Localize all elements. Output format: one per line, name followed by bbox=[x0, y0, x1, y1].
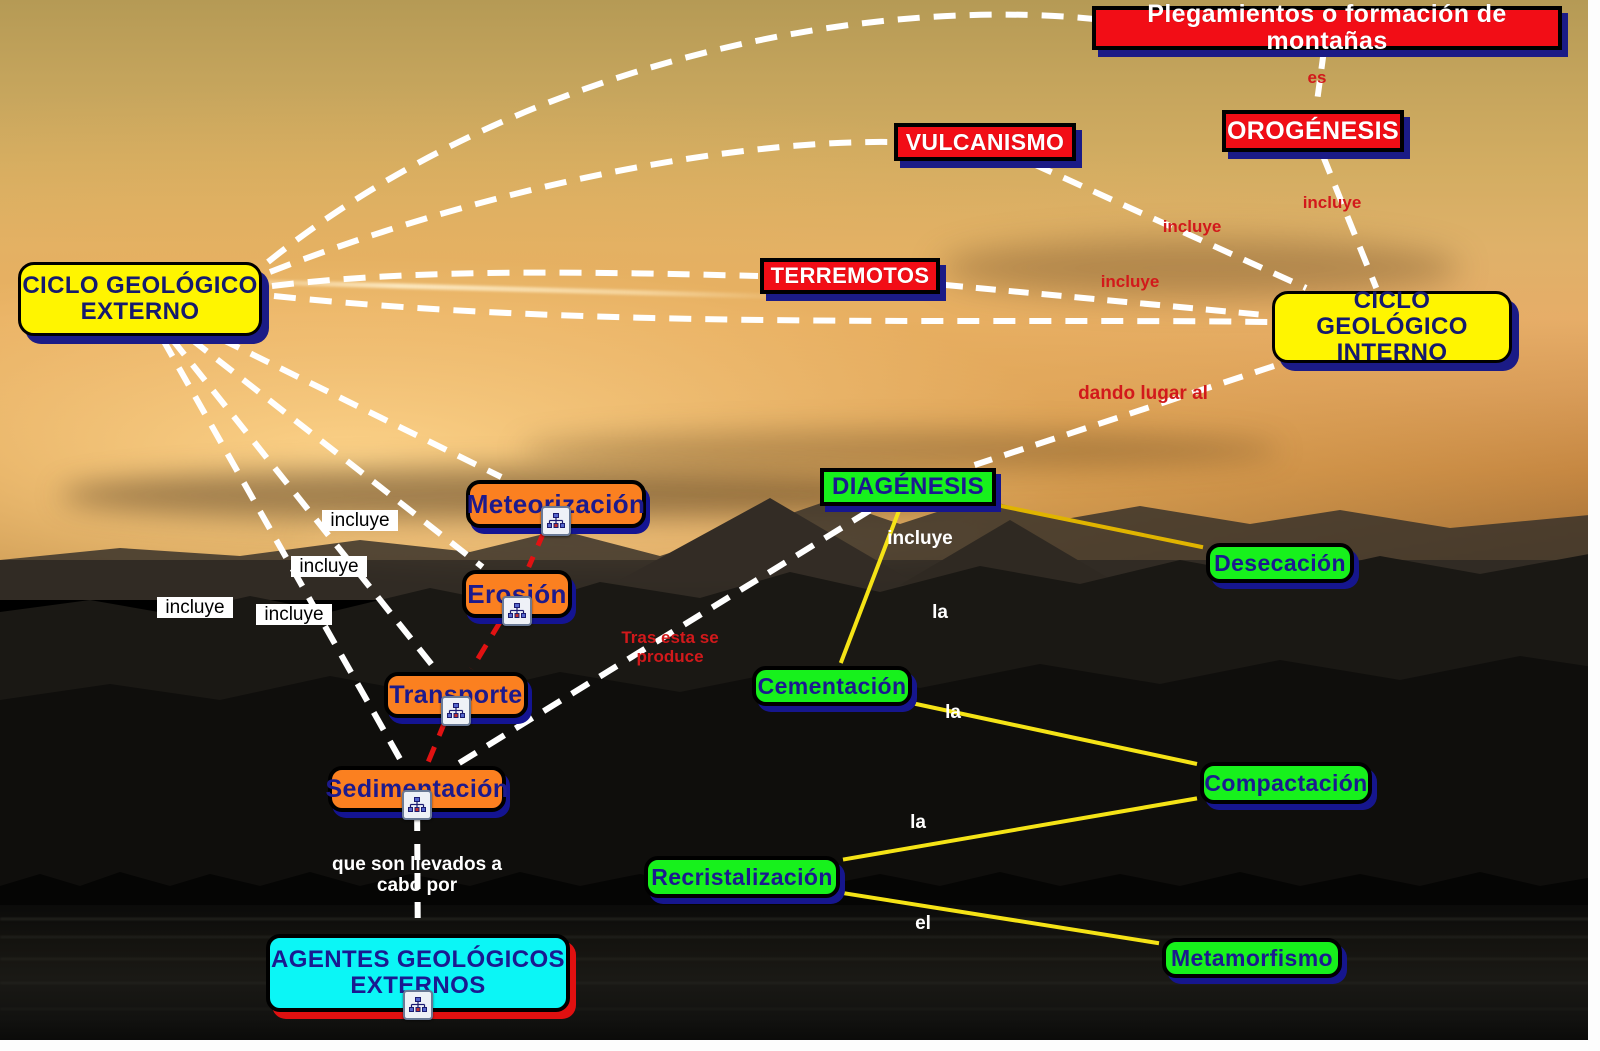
concept-node-vulcanismo[interactable]: VULCANISMO bbox=[894, 123, 1076, 161]
link-label-la-recristalizacion[interactable]: la bbox=[903, 812, 933, 833]
link-label-incluye-orogenesis[interactable]: incluye bbox=[1292, 193, 1372, 212]
concept-node-orogenesis[interactable]: OROGÉNESIS bbox=[1222, 110, 1404, 152]
submap-tree-icon[interactable] bbox=[502, 596, 532, 626]
concept-node-ciclo-externo[interactable]: CICLO GEOLÓGICO EXTERNO bbox=[18, 262, 262, 336]
concept-node-label: CICLO GEOLÓGICO INTERNO bbox=[1275, 288, 1509, 366]
submap-tree-icon[interactable] bbox=[402, 790, 432, 820]
concept-node-ciclo-interno[interactable]: CICLO GEOLÓGICO INTERNO bbox=[1272, 291, 1512, 363]
right-margin bbox=[1588, 0, 1600, 1051]
link-label-incluye-meteorizacion[interactable]: incluye bbox=[322, 510, 398, 531]
bottom-margin bbox=[0, 1040, 1600, 1051]
concept-node-sedimentacion[interactable]: Sedimentación bbox=[328, 766, 506, 812]
concept-node-label: VULCANISMO bbox=[906, 130, 1065, 155]
submap-tree-icon[interactable] bbox=[441, 696, 471, 726]
link-label-incluye-sedimentacion[interactable]: incluye bbox=[157, 597, 233, 618]
water-surface bbox=[0, 905, 1600, 1051]
concept-node-recristalizacion[interactable]: Recristalización bbox=[644, 856, 840, 898]
concept-node-label: Metamorfismo bbox=[1171, 946, 1333, 971]
link-label-la-desecacion[interactable]: la bbox=[925, 602, 955, 623]
concept-node-cementacion[interactable]: Cementación bbox=[752, 666, 912, 706]
concept-node-diagenesis[interactable]: DIAGÉNESIS bbox=[820, 468, 996, 506]
link-label-el-metamorfismo[interactable]: el bbox=[908, 913, 938, 934]
concept-node-agentes[interactable]: AGENTES GEOLÓGICOS EXTERNOS bbox=[266, 934, 570, 1012]
link-label-la-compactacion[interactable]: la bbox=[938, 702, 968, 723]
concept-node-meteorizacion[interactable]: Meteorización bbox=[466, 480, 646, 528]
concept-node-label: DIAGÉNESIS bbox=[832, 474, 984, 500]
link-label-incluye-diagenesis[interactable]: incluye bbox=[880, 528, 960, 549]
concept-node-transporte[interactable]: Transporte bbox=[384, 672, 528, 718]
submap-tree-icon[interactable] bbox=[541, 506, 571, 536]
link-label-incluye-terremotos[interactable]: incluye bbox=[1090, 272, 1170, 291]
link-label-es[interactable]: es bbox=[1297, 68, 1337, 87]
concept-node-label: TERREMOTOS bbox=[771, 264, 930, 288]
concept-node-label: Recristalización bbox=[651, 865, 833, 890]
concept-node-metamorfismo[interactable]: Metamorfismo bbox=[1162, 938, 1342, 978]
concept-node-label: OROGÉNESIS bbox=[1227, 118, 1399, 145]
concept-node-compactacion[interactable]: Compactación bbox=[1200, 762, 1372, 804]
concept-map-canvas: Plegamientos o formación de montañasOROG… bbox=[0, 0, 1600, 1051]
link-label-tras-esta-se-produce[interactable]: Tras esta se produce bbox=[600, 628, 740, 666]
link-label-incluye-vulcanismo[interactable]: incluye bbox=[1152, 217, 1232, 236]
submap-tree-icon[interactable] bbox=[403, 990, 433, 1020]
concept-node-terremotos[interactable]: TERREMOTOS bbox=[760, 258, 940, 294]
concept-node-label: CICLO GEOLÓGICO EXTERNO bbox=[22, 273, 257, 325]
link-label-que-son-llevados[interactable]: que son llevados a cabo por bbox=[322, 854, 512, 897]
concept-node-label: Compactación bbox=[1204, 771, 1367, 796]
concept-node-label: Cementación bbox=[758, 674, 907, 699]
link-label-dando-lugar-al[interactable]: dando lugar al bbox=[1078, 383, 1208, 404]
concept-node-plegamientos[interactable]: Plegamientos o formación de montañas bbox=[1092, 6, 1562, 50]
concept-node-label: Plegamientos o formación de montañas bbox=[1096, 1, 1558, 55]
concept-node-desecacion[interactable]: Desecación bbox=[1206, 543, 1354, 583]
link-label-incluye-transporte[interactable]: incluye bbox=[256, 604, 332, 625]
concept-node-erosion[interactable]: Erosión bbox=[462, 570, 572, 618]
link-label-incluye-erosion[interactable]: incluye bbox=[291, 556, 367, 577]
concept-node-label: Desecación bbox=[1214, 551, 1346, 576]
